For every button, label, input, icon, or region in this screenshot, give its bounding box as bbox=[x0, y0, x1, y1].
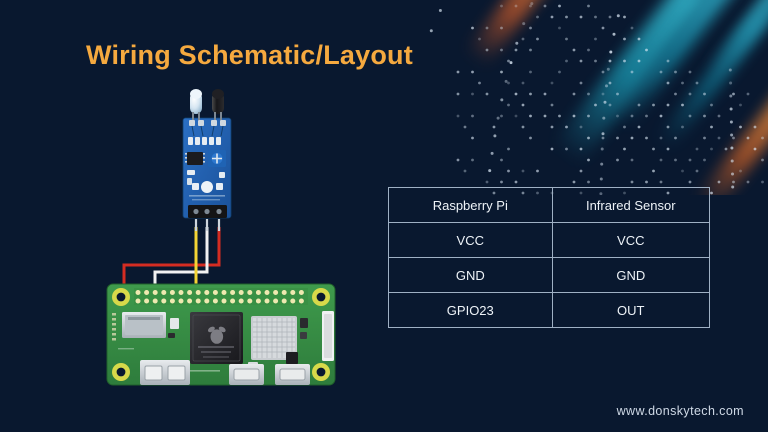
teal-streak-3 bbox=[706, 0, 768, 78]
dot-matrix-arc bbox=[428, 0, 768, 195]
raspberry-logo bbox=[207, 325, 227, 343]
connection-table: Raspberry Pi Infrared Sensor VCC VCC GND… bbox=[388, 187, 710, 328]
orange-streak-top bbox=[464, 0, 595, 68]
gnd-wire bbox=[155, 227, 207, 288]
ir-receiver-photodiode bbox=[212, 89, 224, 120]
header-cell-infrared-sensor: Infrared Sensor bbox=[552, 188, 709, 223]
table-row: VCC VCC bbox=[389, 223, 710, 258]
resistor-row bbox=[188, 137, 221, 145]
slide-canvas: Wiring Schematic/Layout bbox=[0, 0, 768, 432]
vcc-wire bbox=[124, 227, 219, 288]
site-url: www.donskytech.com bbox=[617, 404, 744, 418]
infrared-sensor-module bbox=[183, 89, 231, 218]
soc-chip bbox=[190, 312, 243, 364]
hdmi-port bbox=[140, 360, 190, 385]
microsd-slot bbox=[122, 312, 166, 338]
cell-sensor-vcc: VCC bbox=[552, 223, 709, 258]
header-cell-raspberry-pi: Raspberry Pi bbox=[389, 188, 553, 223]
cell-sensor-out: OUT bbox=[552, 293, 709, 328]
orange-streak-bottom bbox=[693, 44, 768, 195]
teal-streak-2 bbox=[609, 0, 768, 130]
table-row: GPIO23 OUT bbox=[389, 293, 710, 328]
wifi-shield bbox=[251, 316, 297, 360]
ir-emitter-led bbox=[190, 89, 202, 120]
obstacle-led bbox=[216, 183, 223, 190]
cell-pi-gpio23: GPIO23 bbox=[389, 293, 553, 328]
wire-group bbox=[124, 219, 219, 288]
table-row: GND GND bbox=[389, 258, 710, 293]
page-title: Wiring Schematic/Layout bbox=[86, 40, 413, 71]
usb-data-port bbox=[229, 364, 264, 385]
raspberry-pi-board bbox=[107, 284, 335, 385]
teal-streak-1 bbox=[552, 0, 763, 166]
mounting-holes bbox=[112, 288, 330, 381]
teal-streak-4 bbox=[655, 0, 768, 151]
gpio-header bbox=[134, 288, 308, 305]
cell-sensor-gnd: GND bbox=[552, 258, 709, 293]
sensor-pin-header bbox=[188, 205, 227, 218]
cell-pi-vcc: VCC bbox=[389, 223, 553, 258]
cell-pi-gnd: GND bbox=[389, 258, 553, 293]
decorative-graphic bbox=[428, 0, 768, 195]
camera-connector bbox=[322, 311, 334, 361]
potentiometer bbox=[208, 150, 226, 167]
comparator-ic bbox=[185, 152, 205, 165]
table-header-row: Raspberry Pi Infrared Sensor bbox=[389, 188, 710, 223]
usb-power-port bbox=[275, 364, 310, 385]
signal-led bbox=[201, 181, 213, 193]
power-led bbox=[192, 183, 199, 190]
